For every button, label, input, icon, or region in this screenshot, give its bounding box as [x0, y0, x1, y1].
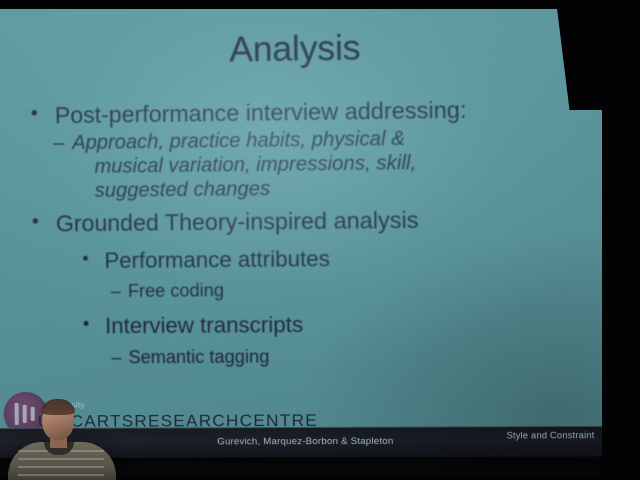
slide: Analysis • Post-performance interview ad…	[0, 0, 607, 458]
footer-topic: Style and Constraint	[506, 430, 594, 440]
sub-sub-bullet-text: Free coding	[128, 278, 583, 303]
sub-bullet-text: Interview transcripts	[105, 310, 583, 339]
bullet-marker-dot: •	[82, 248, 104, 269]
bullet-marker-dot: •	[83, 314, 105, 335]
bullet-text: Post-performance interview addressing:	[55, 95, 581, 129]
bullet-item: • Grounded Theory-inspired analysis	[32, 205, 582, 237]
photo-scene: Analysis • Post-performance interview ad…	[0, 0, 640, 480]
sub-sub-bullet-item: – Semantic tagging	[33, 344, 583, 368]
bullet-marker-dot: •	[32, 211, 56, 234]
sub-bullet-item: • Interview transcripts	[33, 310, 583, 339]
footer-authors: Gurevich, Marquez-Borbon & Stapleton	[217, 436, 393, 448]
projection-screen: Analysis • Post-performance interview ad…	[0, 0, 607, 458]
sub-sub-bullet-text: Semantic tagging	[128, 344, 583, 368]
slide-body: • Post-performance interview addressing:…	[31, 88, 584, 369]
sub-bullet-continuation-line: suggested changes	[31, 174, 581, 203]
shirt-stripe	[18, 466, 104, 468]
presenter-silhouette	[8, 398, 116, 480]
sub-bullet-text: Performance attributes	[104, 244, 582, 274]
bullet-marker-dot: •	[31, 102, 55, 125]
bullet-marker-dash: –	[53, 132, 72, 155]
slide-title: Analysis	[0, 24, 603, 74]
bullet-item: • Post-performance interview addressing:	[31, 95, 581, 129]
shirt-stripe	[18, 458, 104, 460]
sub-sub-bullet-item: – Free coding	[32, 278, 582, 303]
room-darkness-top	[0, 0, 640, 9]
presenter-hair	[41, 399, 75, 415]
shirt-stripe	[18, 474, 104, 476]
bullet-marker-dash: –	[111, 347, 128, 368]
sub-bullet-item: • Performance attributes	[32, 244, 582, 275]
bullet-text: Grounded Theory-inspired analysis	[56, 205, 582, 237]
bullet-marker-dash: –	[111, 281, 128, 302]
